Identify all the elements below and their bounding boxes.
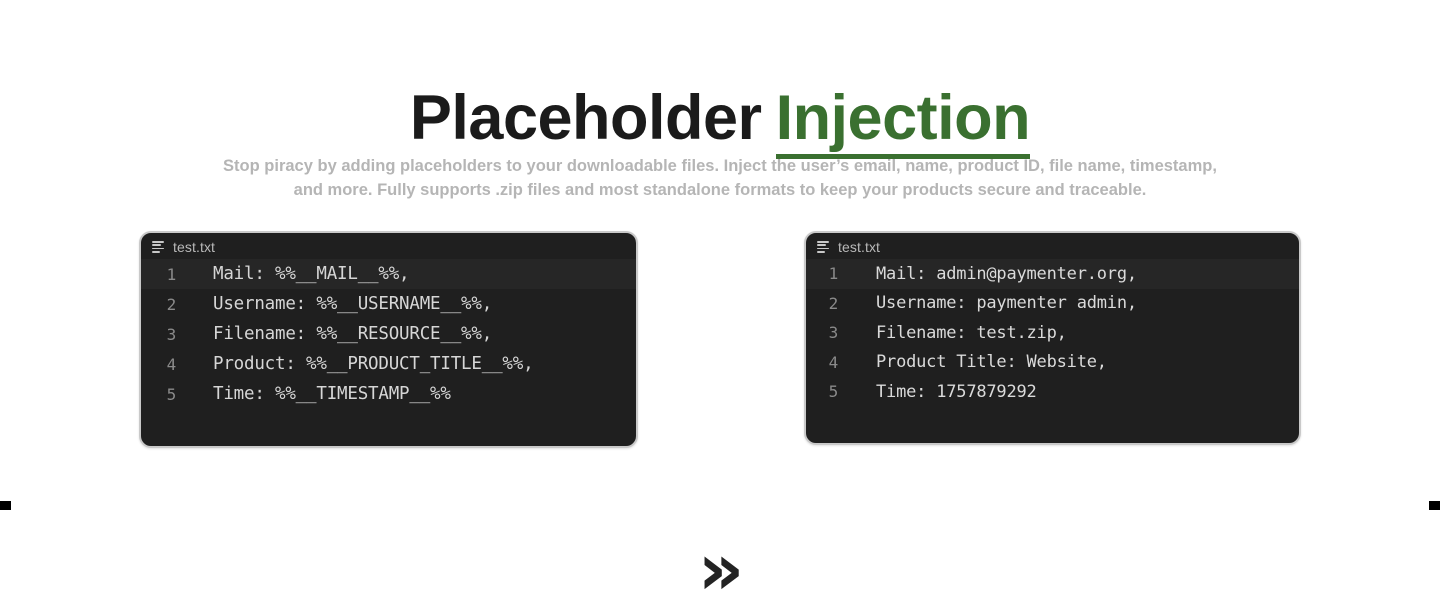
code-panel-before: test.txt 1 Mail: %%__MAIL__%%, 2 Usernam… — [139, 231, 638, 448]
code-line: 2 Username: paymenter admin, — [806, 289, 1299, 319]
list-lines-icon — [817, 240, 830, 253]
line-number: 3 — [806, 323, 847, 342]
code-line: 5 Time: %%__TIMESTAMP__%% — [141, 379, 636, 409]
line-source: Username: %%__USERNAME__%%, — [185, 294, 492, 314]
line-number: 1 — [141, 265, 185, 284]
line-source: Filename: test.zip, — [847, 323, 1067, 343]
code-line: 3 Filename: %%__RESOURCE__%%, — [141, 319, 636, 349]
line-number: 5 — [141, 385, 185, 404]
code-panel-after-header: test.txt — [806, 233, 1299, 257]
line-number: 2 — [141, 295, 185, 314]
code-panel-after: test.txt 1 Mail: admin@paymenter.org, 2 … — [804, 231, 1301, 445]
corner-mark-bottom-right — [1429, 501, 1440, 510]
line-source: Time: %%__TIMESTAMP__%% — [185, 384, 451, 404]
page-title-plain: Placeholder — [410, 83, 762, 153]
page-title: PlaceholderInjection — [0, 84, 1440, 153]
line-number: 4 — [806, 353, 847, 372]
code-line: 4 Product: %%__PRODUCT_TITLE__%%, — [141, 349, 636, 379]
line-source: Mail: admin@paymenter.org, — [847, 264, 1137, 284]
line-source: Time: 1757879292 — [847, 382, 1037, 402]
code-line: 2 Username: %%__USERNAME__%%, — [141, 289, 636, 319]
line-source: Username: paymenter admin, — [847, 293, 1137, 313]
code-panel-after-body: 1 Mail: admin@paymenter.org, 2 Username:… — [806, 257, 1299, 407]
double-chevron-right-icon: » — [688, 536, 754, 606]
code-panel-before-body: 1 Mail: %%__MAIL__%%, 2 Username: %%__US… — [141, 257, 636, 409]
line-number: 5 — [806, 382, 847, 401]
page-subtitle: Stop piracy by adding placeholders to yo… — [215, 154, 1225, 202]
line-number: 4 — [141, 355, 185, 374]
code-line: 4 Product Title: Website, — [806, 348, 1299, 378]
code-panel-after-filename: test.txt — [838, 240, 880, 254]
code-line: 5 Time: 1757879292 — [806, 377, 1299, 407]
line-number: 3 — [141, 325, 185, 344]
corner-mark-bottom-left — [0, 501, 11, 510]
code-line: 3 Filename: test.zip, — [806, 318, 1299, 348]
line-source: Filename: %%__RESOURCE__%%, — [185, 324, 492, 344]
before-after-comparison: test.txt 1 Mail: %%__MAIL__%%, 2 Usernam… — [0, 231, 1440, 451]
code-panel-before-filename: test.txt — [173, 240, 215, 254]
line-number: 1 — [806, 264, 847, 283]
line-source: Product: %%__PRODUCT_TITLE__%%, — [185, 354, 533, 374]
code-line: 1 Mail: %%__MAIL__%%, — [141, 259, 636, 289]
list-lines-icon — [152, 240, 165, 253]
code-line: 1 Mail: admin@paymenter.org, — [806, 259, 1299, 289]
line-source: Mail: %%__MAIL__%%, — [185, 264, 409, 284]
page-title-accent: Injection — [776, 83, 1031, 159]
line-number: 2 — [806, 294, 847, 313]
code-panel-before-header: test.txt — [141, 233, 636, 257]
line-source: Product Title: Website, — [847, 352, 1107, 372]
